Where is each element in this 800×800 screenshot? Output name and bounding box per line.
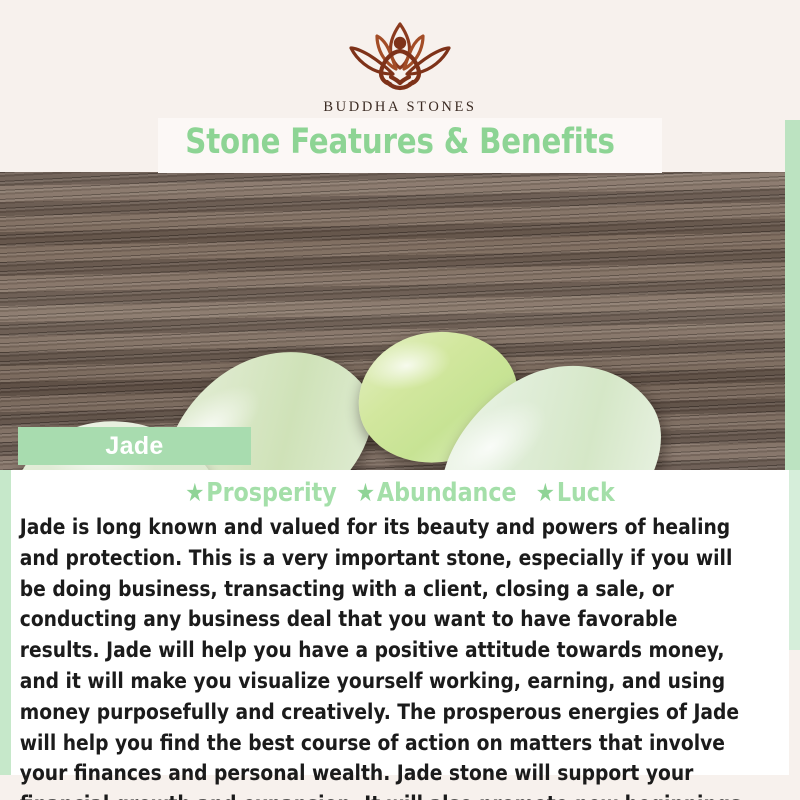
decor-green-left-strip [0,470,11,775]
brand-name: BUDDHA STONES [0,99,800,116]
stone-name-badge: Jade [18,427,251,465]
poster-root: BUDDHA STONES Stone Features & Benefits … [0,0,800,800]
keyword-label: Luck [557,478,615,508]
page-title: Stone Features & Benefits [28,122,772,162]
brand-header: BUDDHA STONES [0,0,800,120]
brand-logo: BUDDHA STONES [0,18,800,116]
stone-description: Jade is long known and valued for its be… [11,508,770,800]
keyword-item-luck: ★Luck [536,478,615,508]
lotus-meditation-icon [325,18,475,96]
stone-photo [0,172,785,470]
decor-green-right-strip [789,470,800,650]
content-panel: ★Prosperity ★Abundance ★Luck Jade is lon… [11,470,789,775]
star-icon: ★ [356,478,375,507]
keyword-item-prosperity: ★Prosperity [185,478,336,508]
keyword-label: Abundance [377,478,517,508]
keyword-list: ★Prosperity ★Abundance ★Luck [30,470,769,508]
star-icon: ★ [185,478,204,507]
keyword-label: Prosperity [206,478,336,508]
stone-name-label: Jade [105,432,163,461]
keyword-item-abundance: ★Abundance [356,478,517,508]
star-icon: ★ [536,478,555,507]
